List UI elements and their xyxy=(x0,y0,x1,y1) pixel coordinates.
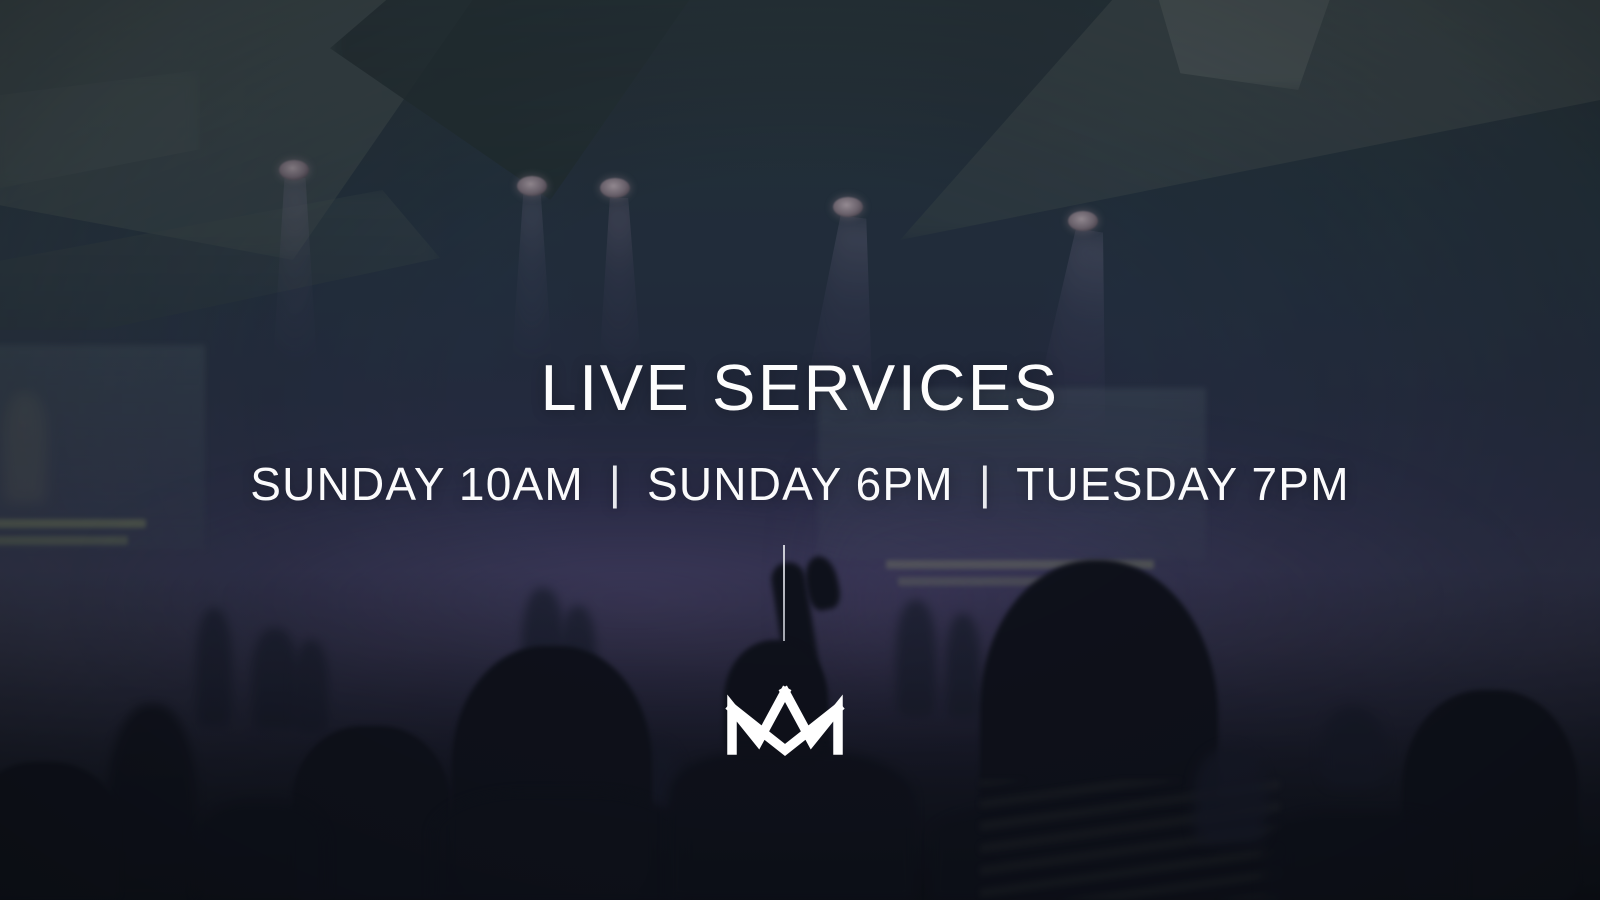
page-title: LIVE SERVICES xyxy=(0,355,1600,420)
service-separator-2: | xyxy=(968,460,1003,506)
service-time-3: TUESDAY 7PM xyxy=(1016,458,1350,510)
service-time-1: SUNDAY 10AM xyxy=(250,458,584,510)
service-times: SUNDAY 10AM | SUNDAY 6PM | TUESDAY 7PM xyxy=(0,461,1600,507)
vertical-divider-icon xyxy=(783,545,785,641)
service-separator-1: | xyxy=(598,460,633,506)
banner-content: LIVE SERVICES SUNDAY 10AM | SUNDAY 6PM |… xyxy=(0,0,1600,900)
service-time-2: SUNDAY 6PM xyxy=(647,458,954,510)
live-services-banner: LIVE SERVICES SUNDAY 10AM | SUNDAY 6PM |… xyxy=(0,0,1600,900)
church-m-monogram-logo-icon xyxy=(724,678,846,758)
